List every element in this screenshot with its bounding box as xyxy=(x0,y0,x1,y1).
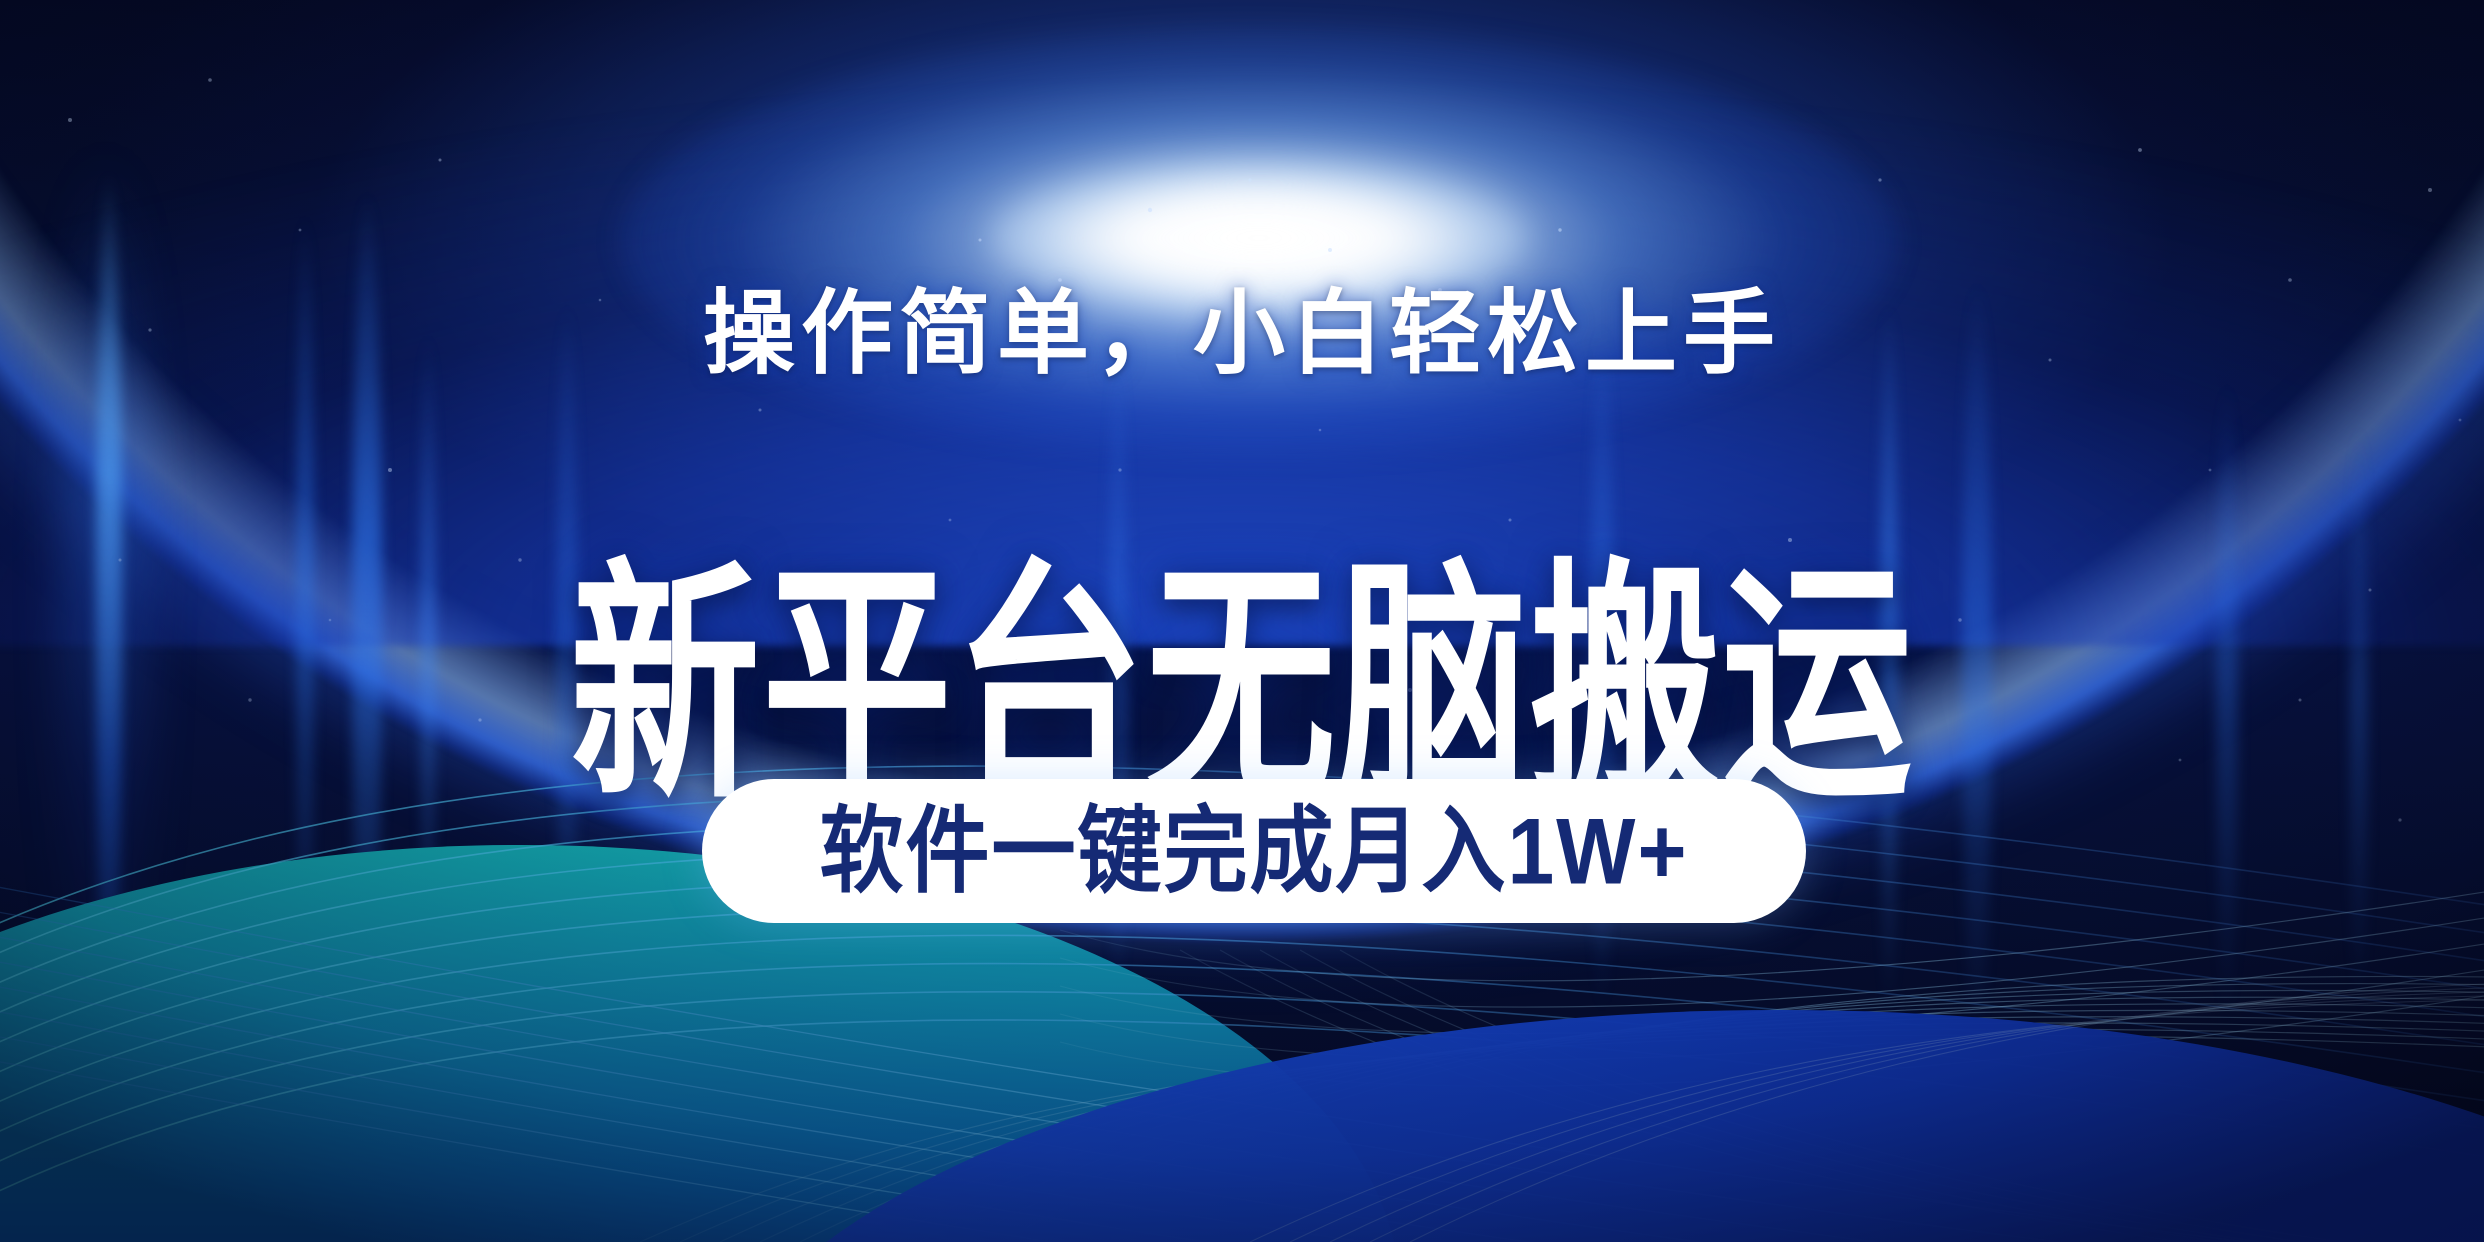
cta-pill: 软件一键完成月入1W+ xyxy=(702,779,1806,923)
cta-pill-text: 软件一键完成月入1W+ xyxy=(819,804,1688,898)
banner-content: 操作简单，小白轻松上手 新平台无脑搬运 软件一键完成月入1W+ xyxy=(0,0,2484,1242)
banner-subtitle: 操作简单，小白轻松上手 xyxy=(703,288,1781,380)
promo-banner: 操作简单，小白轻松上手 新平台无脑搬运 软件一键完成月入1W+ xyxy=(0,0,2484,1242)
banner-headline: 新平台无脑搬运 xyxy=(570,559,1914,814)
